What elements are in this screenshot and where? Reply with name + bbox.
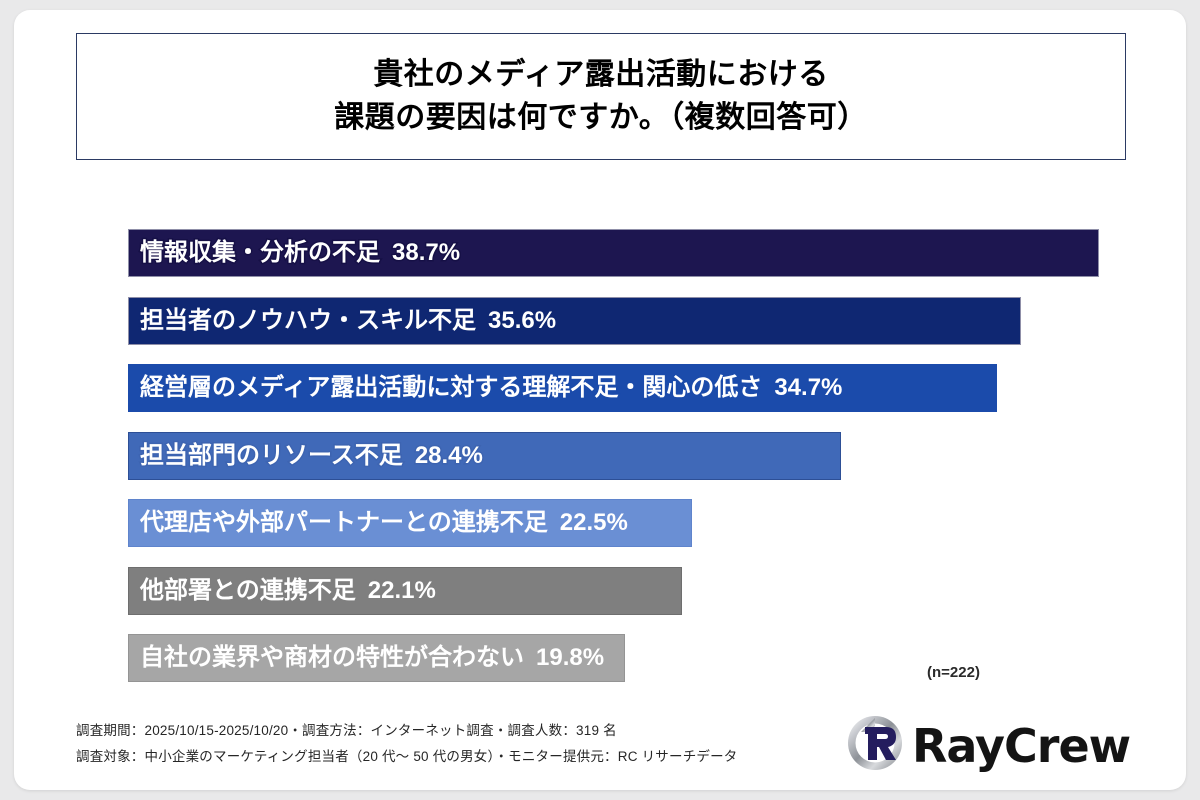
- bar-category-label: 担当者のノウハウ・スキル不足: [140, 307, 476, 334]
- horizontal-bar-chart: 情報収集・分析の不足38.7%担当者のノウハウ・スキル不足35.6%経営層のメデ…: [14, 10, 1186, 790]
- bar-value-label: 34.7%: [774, 374, 842, 401]
- bar-row[interactable]: 情報収集・分析の不足38.7%: [128, 229, 1099, 277]
- bar-value-label: 22.5%: [560, 509, 628, 536]
- bar-label: 担当者のノウハウ・スキル不足35.6%: [128, 309, 556, 333]
- bar-category-label: 代理店や外部パートナーとの連携不足: [140, 509, 548, 536]
- bar-label: 情報収集・分析の不足38.7%: [128, 241, 460, 265]
- bar-label: 担当部門のリソース不足28.4%: [128, 444, 483, 468]
- bar-row[interactable]: 担当者のノウハウ・スキル不足35.6%: [128, 297, 1021, 345]
- bar-value-label: 38.7%: [392, 239, 460, 266]
- slide-card: 貴社のメディア露出活動における 課題の要因は何ですか。（複数回答可） 情報収集・…: [14, 10, 1186, 790]
- footer-line-1: 調査期間：2025/10/15-2025/10/20・調査方法：インターネット調…: [76, 718, 738, 744]
- bar-value-label: 19.8%: [536, 644, 604, 671]
- bar-label: 代理店や外部パートナーとの連携不足22.5%: [128, 511, 628, 535]
- bar-category-label: 担当部門のリソース不足: [140, 442, 403, 469]
- bar-row[interactable]: 自社の業界や商材の特性が合わない19.8%: [128, 634, 625, 682]
- bar-category-label: 経営層のメディア露出活動に対する理解不足・関心の低さ: [140, 374, 762, 401]
- bar-row[interactable]: 他部署との連携不足22.1%: [128, 567, 682, 615]
- sample-size-note: (n=222): [927, 664, 980, 681]
- survey-methodology-footer: 調査期間：2025/10/15-2025/10/20・調査方法：インターネット調…: [76, 718, 738, 771]
- bar-category-label: 情報収集・分析の不足: [140, 239, 380, 266]
- bar-value-label: 28.4%: [415, 442, 483, 469]
- bar-value-label: 35.6%: [488, 307, 556, 334]
- bar-row[interactable]: 経営層のメディア露出活動に対する理解不足・関心の低さ34.7%: [128, 364, 997, 412]
- bar-value-label: 22.1%: [368, 577, 436, 604]
- bar-label: 他部署との連携不足22.1%: [128, 579, 436, 603]
- footer-line-2: 調査対象：中小企業のマーケティング担当者（20 代〜 50 代の男女）・モニター…: [76, 744, 738, 770]
- bar-category-label: 自社の業界や商材の特性が合わない: [140, 644, 524, 671]
- bar-label: 自社の業界や商材の特性が合わない19.8%: [128, 646, 604, 670]
- bar-row[interactable]: 担当部門のリソース不足28.4%: [128, 432, 841, 480]
- bar-row[interactable]: 代理店や外部パートナーとの連携不足22.5%: [128, 499, 692, 547]
- raycrew-logo: RayCrew: [844, 712, 1130, 779]
- raycrew-wordmark: RayCrew: [912, 719, 1130, 773]
- bar-category-label: 他部署との連携不足: [140, 577, 356, 604]
- raycrew-r-monogram-icon: [844, 712, 906, 779]
- bar-label: 経営層のメディア露出活動に対する理解不足・関心の低さ34.7%: [128, 376, 842, 400]
